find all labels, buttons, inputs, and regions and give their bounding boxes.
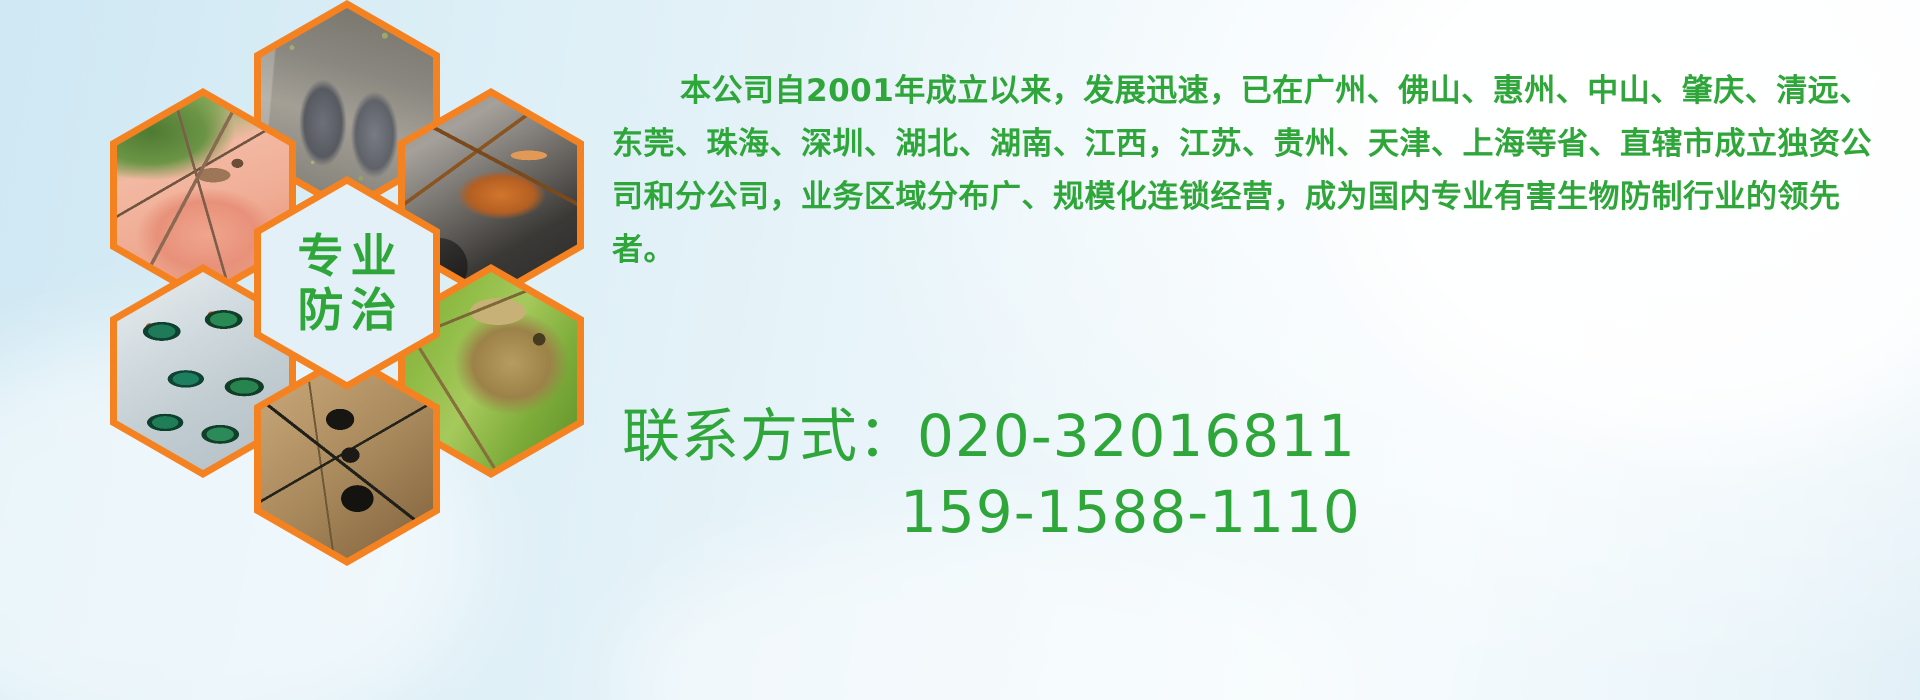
phone-landline[interactable]: 020-32016811: [917, 402, 1356, 470]
slogan-line-1: 专业: [291, 229, 404, 283]
slogan-text: 专业 防治: [261, 184, 433, 382]
intro-paragraph: 本公司自2001年成立以来，发展迅速，已在广州、佛山、惠州、中山、肇庆、清远、东…: [612, 65, 1874, 277]
pest-control-banner: 专业 防治 本公司自2001年成立以来，发展迅速，已在广州、佛山、惠州、中山、肇…: [0, 0, 1920, 700]
contact-block: 联系方式：020-32016811 159-1588-1110: [612, 398, 1892, 550]
contact-line-primary: 联系方式：020-32016811: [612, 398, 1892, 474]
slogan-line-2: 防治: [291, 283, 404, 337]
hex-inner-slogan: 专业 防治: [261, 184, 433, 382]
phone-mobile[interactable]: 159-1588-1110: [612, 474, 1892, 550]
intro-copy-block: 本公司自2001年成立以来，发展迅速，已在广州、佛山、惠州、中山、肇庆、清远、东…: [612, 34, 1874, 308]
honeycomb-collage: 专业 防治: [84, 0, 604, 576]
contact-label: 联系方式：: [622, 402, 917, 470]
